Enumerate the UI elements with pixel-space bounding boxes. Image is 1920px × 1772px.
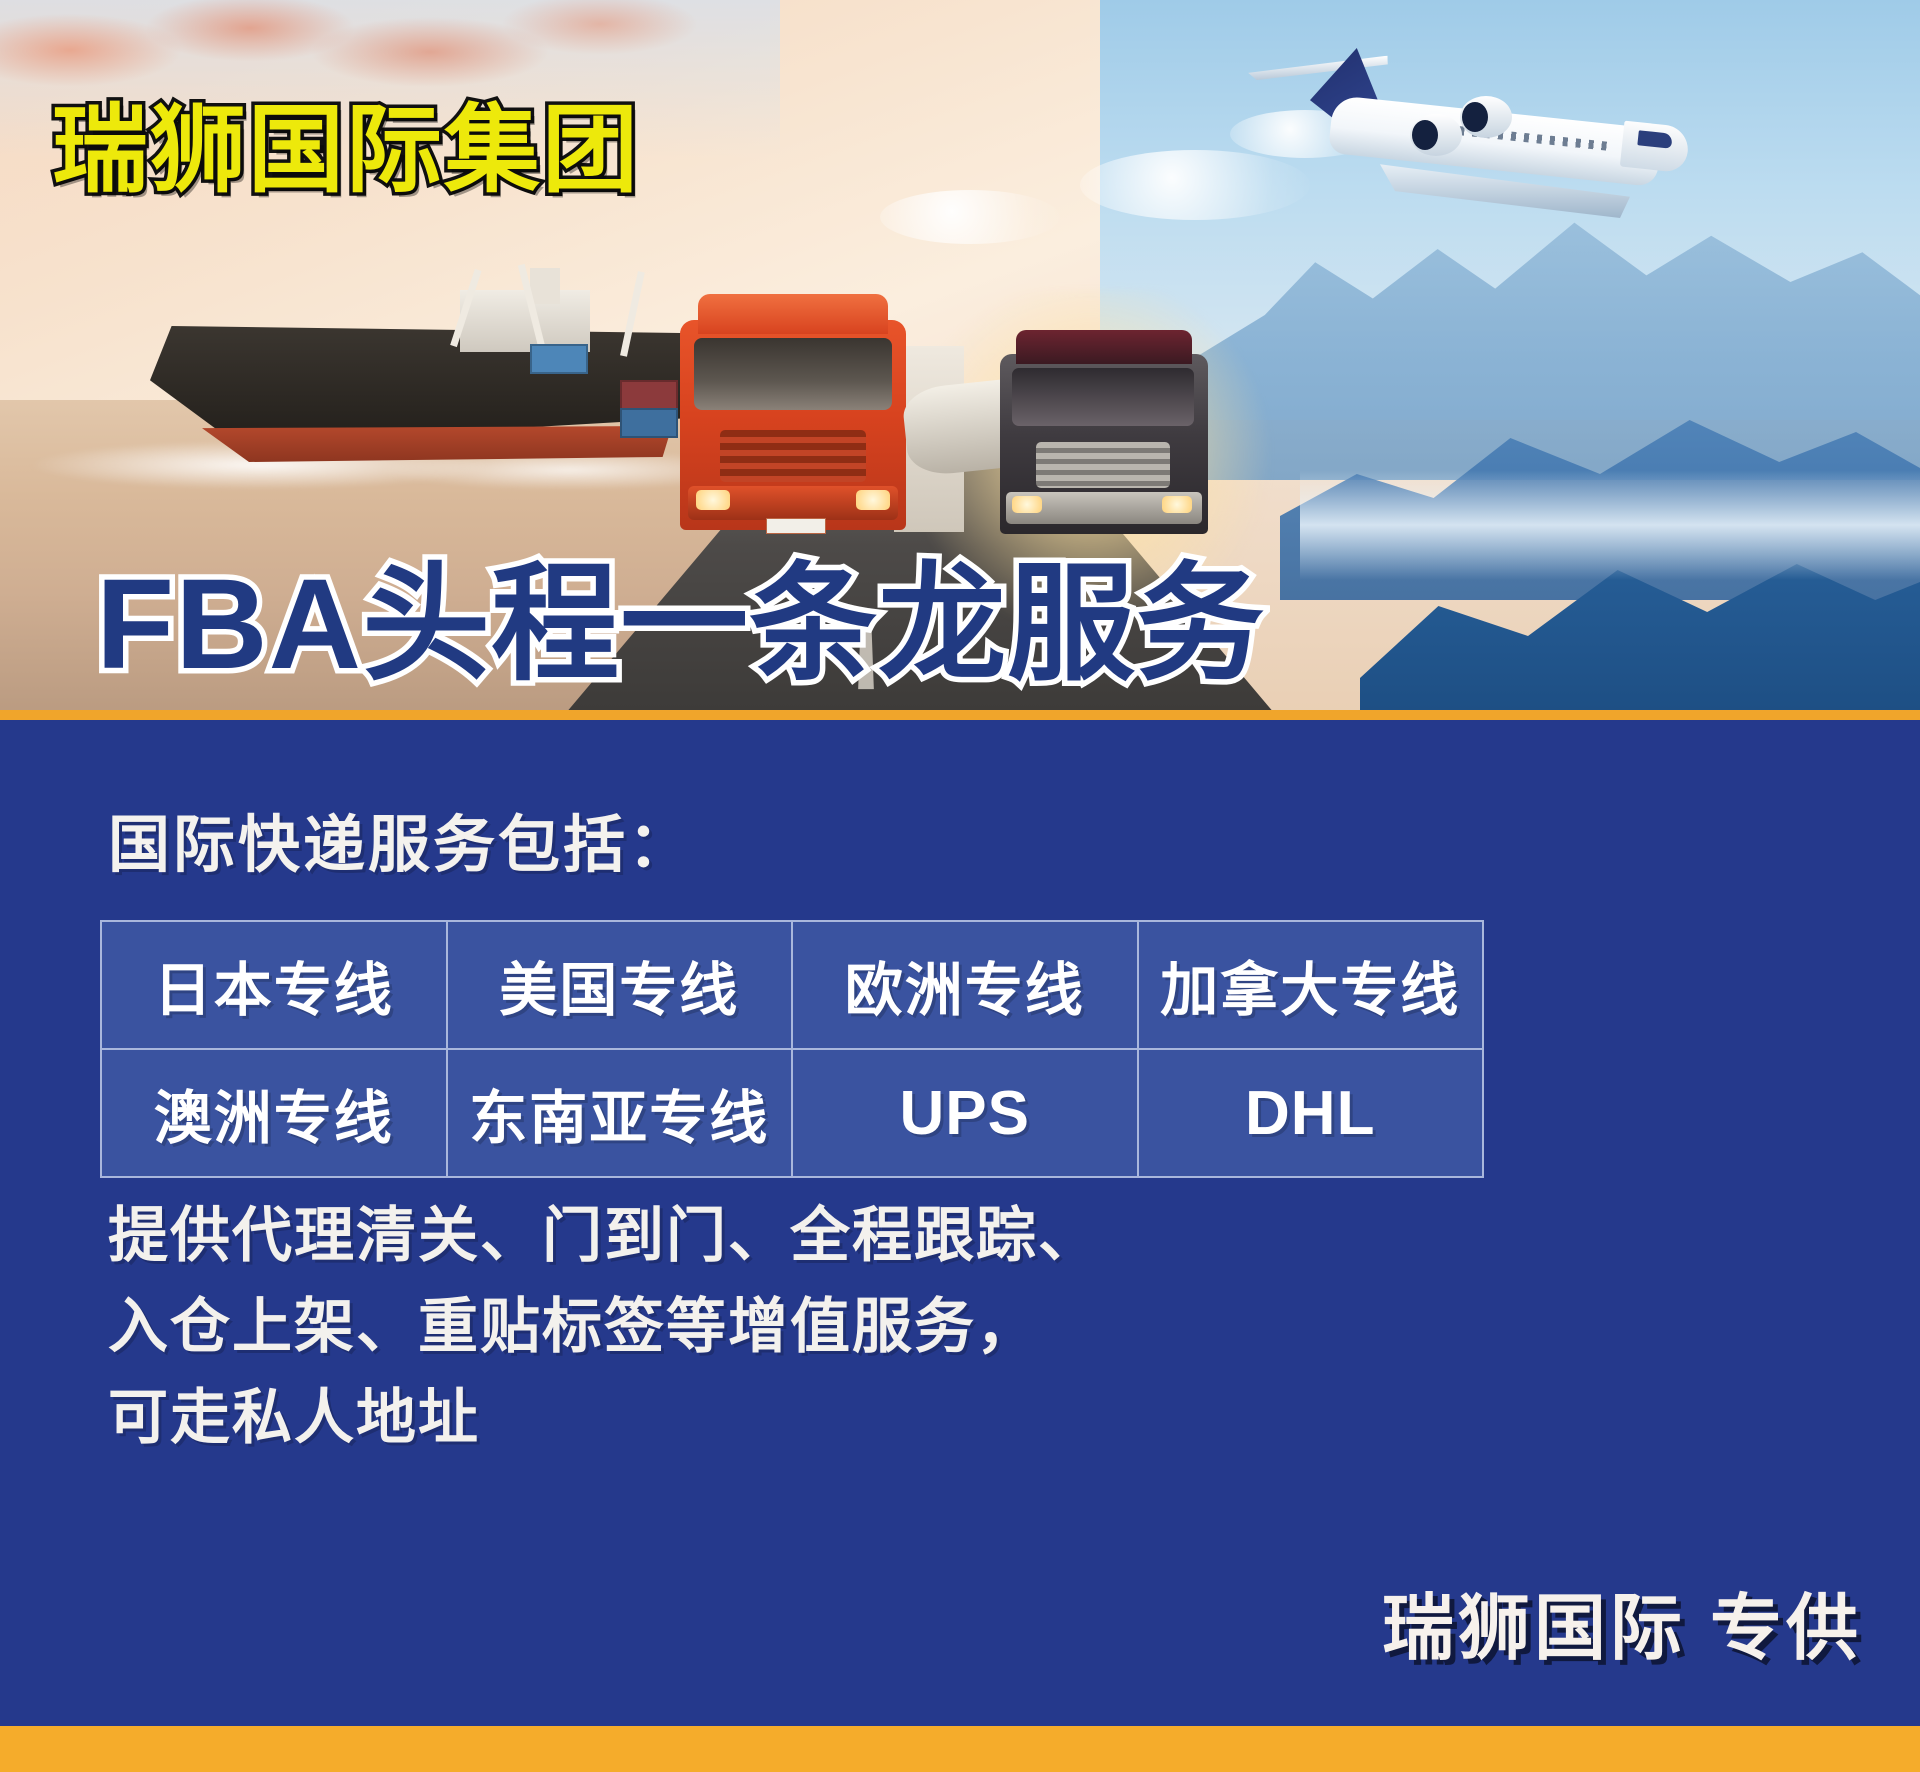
ship-funnel: [530, 268, 560, 304]
ship-superstructure: [460, 290, 590, 352]
table-cell-canada[interactable]: 加拿大专线: [1138, 921, 1484, 1049]
table-cell-ups[interactable]: UPS: [792, 1049, 1138, 1177]
table-cell-dhl[interactable]: DHL: [1138, 1049, 1484, 1177]
description-line-2: 入仓上架、重贴标签等增值服务，: [108, 1281, 1100, 1372]
truck-windshield: [694, 338, 892, 410]
table-cell-southeast-asia[interactable]: 东南亚专线: [447, 1049, 793, 1177]
services-table: 日本专线 美国专线 欧洲专线 加拿大专线 澳洲专线 东南亚专线 UPS DHL: [100, 920, 1484, 1178]
gray-truck-icon: [1000, 320, 1220, 535]
ship-waterline: [202, 426, 672, 462]
hero-headline: FBA头程一条龙服务: [96, 520, 1265, 705]
shipping-container: [530, 344, 588, 374]
table-cell-europe[interactable]: 欧洲专线: [792, 921, 1138, 1049]
mountain-mist: [1300, 470, 1920, 580]
shipping-container: [620, 408, 678, 438]
services-description: 提供代理清关、门到门、全程跟踪、 入仓上架、重贴标签等增值服务， 可走私人地址: [108, 1190, 1100, 1464]
table-row: 日本专线 美国专线 欧洲专线 加拿大专线: [101, 921, 1483, 1049]
description-line-3: 可走私人地址: [108, 1372, 1100, 1463]
orange-divider: [0, 710, 1920, 720]
table-row: 澳洲专线 东南亚专线 UPS DHL: [101, 1049, 1483, 1177]
truck-grille: [720, 430, 866, 482]
description-line-1: 提供代理清关、门到门、全程跟踪、: [108, 1190, 1100, 1281]
truck-roof: [698, 294, 888, 334]
table-cell-japan[interactable]: 日本专线: [101, 921, 447, 1049]
cargo-ship-icon: [150, 262, 710, 462]
truck-grille: [1036, 442, 1170, 488]
brand-logo-text: 瑞狮国际集团: [52, 72, 640, 211]
truck-headlight: [1162, 496, 1192, 513]
poster: 瑞狮国际集团 FBA头程一条龙服务 国际快递服务包括： 日本专线 美国专线 欧洲…: [0, 0, 1920, 1772]
table-cell-australia[interactable]: 澳洲专线: [101, 1049, 447, 1177]
panel-footer-brand: 瑞狮国际 专供: [1382, 1569, 1862, 1674]
truck-roof: [1016, 330, 1192, 364]
services-heading: 国际快递服务包括：: [108, 794, 693, 884]
red-truck-icon: [680, 280, 920, 530]
truck-headlight: [856, 490, 890, 510]
hero-photo: 瑞狮国际集团 FBA头程一条龙服务: [0, 0, 1920, 718]
airplane-icon: [1270, 40, 1690, 230]
truck-headlight: [696, 490, 730, 510]
plane-engine: [1410, 114, 1462, 156]
info-panel: 国际快递服务包括： 日本专线 美国专线 欧洲专线 加拿大专线 澳洲专线 东南亚专…: [0, 720, 1920, 1726]
table-cell-usa[interactable]: 美国专线: [447, 921, 793, 1049]
shipping-container: [620, 380, 678, 410]
cloud-icon: [880, 190, 1060, 244]
truck-headlight: [1012, 496, 1042, 513]
truck-windshield: [1012, 368, 1194, 426]
plane-engine: [1460, 96, 1512, 138]
bottom-accent-bar: [0, 1726, 1920, 1772]
